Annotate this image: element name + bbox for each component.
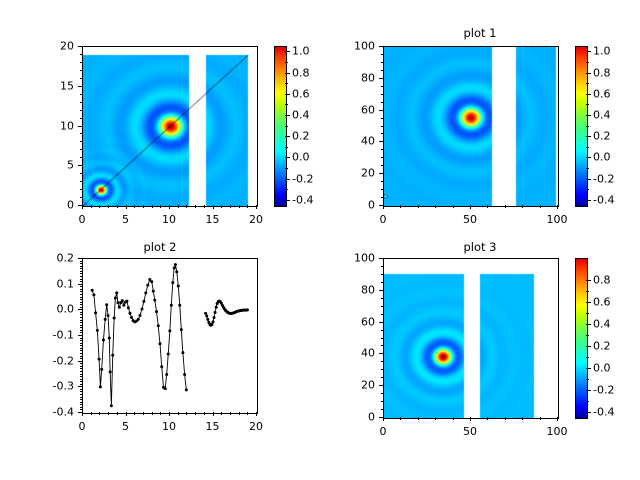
y-minor-tick — [381, 314, 384, 315]
x-minor-tick — [134, 412, 135, 415]
x-tick-label: 10 — [162, 420, 176, 433]
colorbar-minor-tick — [586, 189, 589, 190]
plot-area-bottom-right — [384, 259, 558, 418]
data-point — [153, 299, 156, 302]
y-minor-tick — [80, 268, 83, 269]
x-minor-tick — [204, 205, 205, 208]
axes-top-left[interactable] — [82, 46, 258, 207]
panel-bottom-left: plot 2 05101520-0.4-0.3-0.2-0.10.00.10.2 — [0, 240, 320, 480]
y-tick — [78, 309, 82, 310]
x-minor-tick — [522, 417, 523, 420]
x-minor-tick — [143, 205, 144, 208]
colorbar-tick — [285, 136, 290, 137]
data-point — [152, 290, 155, 293]
data-point — [159, 342, 162, 345]
y-minor-tick — [80, 302, 83, 303]
x-minor-tick — [540, 417, 541, 420]
y-minor-tick — [381, 369, 384, 370]
data-point — [100, 368, 103, 371]
x-minor-tick — [453, 205, 454, 208]
y-minor-tick — [80, 173, 83, 174]
data-point — [168, 329, 171, 332]
x-minor-tick — [435, 417, 436, 420]
y-minor-tick — [80, 322, 83, 323]
y-minor-tick — [80, 291, 83, 292]
x-tick — [213, 412, 214, 416]
y-tick — [379, 385, 383, 386]
x-tick-label: 0 — [380, 213, 387, 226]
data-point — [102, 338, 105, 341]
x-minor-tick — [418, 417, 419, 420]
colorbar-tick-label: 0.6 — [593, 295, 611, 308]
y-minor-tick — [80, 266, 83, 267]
y-minor-tick — [80, 261, 83, 262]
y-minor-tick — [80, 289, 83, 290]
y-minor-tick — [80, 399, 83, 400]
x-minor-tick — [99, 412, 100, 415]
colorbar-minor-tick — [586, 379, 589, 380]
x-tick-label: 20 — [249, 213, 263, 226]
y-minor-tick — [80, 189, 83, 190]
y-tick-label: 20 — [320, 379, 375, 392]
y-minor-tick — [80, 353, 83, 354]
colorbar-tick-label: 0.2 — [593, 339, 611, 352]
colorbar-tick — [285, 94, 290, 95]
y-tick — [78, 126, 82, 127]
data-point — [92, 293, 95, 296]
x-minor-tick — [160, 412, 161, 415]
y-minor-tick — [80, 62, 83, 63]
data-point — [150, 280, 153, 283]
y-tick-label: -0.1 — [0, 329, 74, 342]
colorbar-minor-tick — [285, 83, 288, 84]
colorbar-minor-tick — [586, 83, 589, 84]
y-minor-tick — [80, 102, 83, 103]
data-point — [104, 318, 107, 321]
colorbar-minor-tick — [285, 126, 288, 127]
colorbar-minor-tick — [285, 62, 288, 63]
x-minor-tick — [247, 412, 248, 415]
y-minor-tick — [80, 294, 83, 295]
data-point — [181, 351, 184, 354]
y-minor-tick — [80, 407, 83, 408]
colorbar-tick-label: 0.2 — [292, 130, 310, 143]
y-minor-tick — [80, 379, 83, 380]
data-point — [99, 385, 102, 388]
x-minor-tick — [204, 412, 205, 415]
y-tick-label: 60 — [320, 315, 375, 328]
x-tick-label: 15 — [206, 213, 220, 226]
x-minor-tick — [540, 205, 541, 208]
y-minor-tick — [80, 307, 83, 308]
x-tick — [169, 205, 170, 209]
colorbar-tick — [586, 73, 591, 74]
data-point — [113, 317, 116, 320]
data-point — [140, 308, 143, 311]
y-minor-tick — [80, 384, 83, 385]
x-minor-tick — [178, 205, 179, 208]
data-point — [164, 387, 167, 390]
y-minor-tick — [80, 320, 83, 321]
data-point — [128, 312, 131, 315]
data-point — [155, 310, 158, 313]
x-minor-tick — [221, 412, 222, 415]
x-minor-tick — [230, 205, 231, 208]
x-tick — [557, 205, 558, 209]
y-minor-tick — [381, 409, 384, 410]
data-point — [174, 263, 177, 266]
y-tick — [379, 46, 383, 47]
colorbar-minor-tick — [586, 147, 589, 148]
y-minor-tick — [80, 279, 83, 280]
y-minor-tick — [80, 368, 83, 369]
y-minor-tick — [80, 376, 83, 377]
x-tick — [82, 205, 83, 209]
x-tick — [213, 205, 214, 209]
x-minor-tick — [91, 412, 92, 415]
data-point — [171, 281, 174, 284]
colorbar-tick-label: 0.8 — [593, 66, 611, 79]
y-tick — [379, 141, 383, 142]
colorbar-tick-label: 0.6 — [292, 87, 310, 100]
x-tick — [256, 412, 257, 416]
x-minor-tick — [487, 417, 488, 420]
data-point — [137, 318, 140, 321]
y-minor-tick — [80, 94, 83, 95]
x-tick-label: 100 — [547, 425, 568, 438]
x-tick — [82, 412, 83, 416]
y-minor-tick — [381, 181, 384, 182]
y-minor-tick — [381, 94, 384, 95]
y-minor-tick — [80, 286, 83, 287]
y-minor-tick — [80, 327, 83, 328]
data-point — [204, 312, 207, 315]
x-minor-tick — [99, 205, 100, 208]
x-minor-tick — [505, 205, 506, 208]
x-tick-label: 5 — [122, 213, 129, 226]
data-point — [91, 289, 94, 292]
colorbar-tick — [586, 179, 591, 180]
x-minor-tick — [487, 205, 488, 208]
y-tick-label: 100 — [320, 252, 375, 265]
y-minor-tick — [80, 409, 83, 410]
data-point — [118, 306, 121, 309]
data-point — [180, 328, 183, 331]
y-minor-tick — [381, 266, 384, 267]
y-minor-tick — [381, 126, 384, 127]
x-minor-tick — [221, 205, 222, 208]
x-tick-label: 20 — [249, 420, 263, 433]
x-minor-tick — [91, 205, 92, 208]
colorbar-tick — [586, 346, 591, 347]
y-tick — [78, 205, 82, 206]
y-minor-tick — [381, 377, 384, 378]
colorbar-tick — [285, 157, 290, 158]
data-point — [205, 314, 208, 317]
y-minor-tick — [80, 110, 83, 111]
heatmap-canvas — [384, 259, 558, 418]
x-minor-tick — [230, 412, 231, 415]
y-minor-tick — [80, 281, 83, 282]
colorbar-tick-label: 0.0 — [593, 361, 611, 374]
colorbar-bottom-right — [575, 258, 588, 419]
colorbar-minor-tick — [586, 291, 589, 292]
axes-bottom-right[interactable] — [383, 258, 559, 419]
x-tick — [256, 205, 257, 209]
y-minor-tick — [381, 165, 384, 166]
y-minor-tick — [381, 133, 384, 134]
data-point — [96, 329, 99, 332]
y-tick — [379, 258, 383, 259]
data-point — [213, 316, 216, 319]
colorbar-tick — [586, 51, 591, 52]
colorbar-minor-tick — [285, 104, 288, 105]
x-tick — [169, 412, 170, 416]
y-tick — [379, 110, 383, 111]
y-minor-tick — [80, 263, 83, 264]
panel-bottom-right: plot 3 050100020406080100 -0.4-0.20.00.2… — [320, 240, 640, 480]
data-point — [173, 266, 176, 269]
colorbar-tick — [285, 200, 290, 201]
y-tick-label: 0 — [320, 411, 375, 424]
y-minor-tick — [381, 338, 384, 339]
data-point — [214, 311, 217, 314]
y-tick-label: 40 — [320, 135, 375, 148]
y-tick — [78, 284, 82, 285]
x-minor-tick — [239, 412, 240, 415]
x-minor-tick — [522, 205, 523, 208]
y-minor-tick — [80, 358, 83, 359]
panel-top-right-title: plot 1 — [320, 26, 640, 40]
y-tick-label: 0 — [0, 199, 74, 212]
y-tick — [78, 386, 82, 387]
y-minor-tick — [80, 345, 83, 346]
colorbar-tick-label: -0.2 — [593, 172, 614, 185]
x-tick — [557, 417, 558, 421]
x-tick — [383, 205, 384, 209]
y-minor-tick — [80, 312, 83, 313]
data-point — [206, 318, 209, 321]
data-point — [167, 352, 170, 355]
y-minor-tick — [381, 118, 384, 119]
data-point — [115, 291, 118, 294]
data-point — [165, 373, 168, 376]
x-minor-tick — [195, 205, 196, 208]
colorbar-tick — [586, 390, 591, 391]
y-minor-tick — [80, 340, 83, 341]
y-minor-tick — [80, 374, 83, 375]
y-minor-tick — [80, 402, 83, 403]
colorbar-tick-label: 0.8 — [292, 66, 310, 79]
colorbar-minor-tick — [586, 62, 589, 63]
y-minor-tick — [80, 404, 83, 405]
colorbar-minor-tick — [586, 335, 589, 336]
x-minor-tick — [400, 205, 401, 208]
data-point — [116, 301, 119, 304]
y-minor-tick — [381, 298, 384, 299]
x-minor-tick — [195, 412, 196, 415]
x-tick-label: 0 — [380, 425, 387, 438]
colorbar-top-right — [575, 46, 588, 207]
colorbar-tick-label: 0.8 — [593, 273, 611, 286]
data-point — [127, 306, 130, 309]
y-minor-tick — [80, 78, 83, 79]
y-tick — [379, 78, 383, 79]
y-tick-label: 15 — [0, 79, 74, 92]
colorbar-tick — [586, 115, 591, 116]
y-tick — [379, 290, 383, 291]
y-minor-tick — [80, 297, 83, 298]
heatmap-canvas — [83, 47, 257, 206]
data-point — [98, 358, 101, 361]
colorbar-tick-label: 0.0 — [593, 151, 611, 164]
y-tick-label: 20 — [0, 40, 74, 53]
colorbar-minor-tick — [586, 401, 589, 402]
x-tick — [383, 417, 384, 421]
y-tick — [379, 417, 383, 418]
y-tick-label: 60 — [320, 103, 375, 116]
colorbar-tick — [285, 51, 290, 52]
colorbar-tick — [586, 302, 591, 303]
heatmap-canvas — [384, 47, 558, 206]
colorbar-tick — [586, 324, 591, 325]
colorbar-tick-label: -0.4 — [593, 405, 614, 418]
y-minor-tick — [381, 149, 384, 150]
colorbar-tick — [285, 73, 290, 74]
x-minor-tick — [186, 412, 187, 415]
colorbar-tick — [586, 368, 591, 369]
y-minor-tick — [381, 330, 384, 331]
y-minor-tick — [80, 133, 83, 134]
y-minor-tick — [80, 197, 83, 198]
colorbar-minor-tick — [586, 126, 589, 127]
data-point — [142, 300, 145, 303]
colorbar-minor-tick — [586, 357, 589, 358]
y-tick — [78, 258, 82, 259]
y-tick-label: 10 — [0, 119, 74, 132]
y-tick-label: 80 — [320, 283, 375, 296]
y-tick — [379, 322, 383, 323]
y-minor-tick — [80, 394, 83, 395]
x-tick — [470, 417, 471, 421]
x-tick — [126, 412, 127, 416]
colorbar-tick — [586, 157, 591, 158]
y-minor-tick — [80, 157, 83, 158]
plot-area-top-left — [83, 47, 257, 206]
data-point — [111, 354, 114, 357]
y-tick-label: 20 — [320, 167, 375, 180]
colorbar-minor-tick — [285, 147, 288, 148]
x-tick-label: 100 — [547, 213, 568, 226]
colorbar-tick — [586, 412, 591, 413]
colorbar-tick-label: 0.4 — [593, 317, 611, 330]
data-point — [144, 291, 147, 294]
y-minor-tick — [80, 338, 83, 339]
data-point — [210, 323, 213, 326]
y-minor-tick — [80, 70, 83, 71]
data-point — [185, 388, 188, 391]
y-minor-tick — [381, 86, 384, 87]
y-tick-label: -0.4 — [0, 406, 74, 419]
data-point — [170, 304, 173, 307]
colorbar-tick-label: -0.2 — [292, 172, 313, 185]
x-minor-tick — [108, 205, 109, 208]
data-point — [157, 324, 160, 327]
y-tick — [78, 86, 82, 87]
x-minor-tick — [108, 412, 109, 415]
data-point — [160, 365, 163, 368]
y-minor-tick — [80, 348, 83, 349]
x-tick — [126, 205, 127, 209]
x-tick-label: 0 — [79, 420, 86, 433]
y-minor-tick — [381, 361, 384, 362]
y-tick — [78, 165, 82, 166]
x-minor-tick — [178, 412, 179, 415]
y-tick-label: -0.3 — [0, 380, 74, 393]
x-minor-tick — [239, 205, 240, 208]
data-point — [94, 311, 97, 314]
y-minor-tick — [381, 54, 384, 55]
x-tick-label: 5 — [122, 420, 129, 433]
axes-top-right[interactable] — [383, 46, 559, 207]
x-tick-label: 10 — [162, 213, 176, 226]
y-minor-tick — [80, 332, 83, 333]
y-tick — [379, 173, 383, 174]
y-minor-tick — [80, 330, 83, 331]
data-point — [109, 370, 112, 373]
y-minor-tick — [80, 381, 83, 382]
colorbar-tick-label: 0.4 — [593, 108, 611, 121]
colorbar-minor-tick — [586, 104, 589, 105]
y-minor-tick — [381, 282, 384, 283]
colorbar-minor-tick — [285, 189, 288, 190]
data-point — [125, 300, 128, 303]
data-point — [215, 306, 218, 309]
line-series — [92, 265, 186, 406]
y-minor-tick — [80, 54, 83, 55]
colorbar-tick-label: 0.2 — [593, 130, 611, 143]
data-point — [105, 303, 108, 306]
data-point — [130, 316, 133, 319]
y-tick — [78, 412, 82, 413]
data-point — [138, 314, 141, 317]
x-minor-tick — [418, 205, 419, 208]
y-minor-tick — [80, 363, 83, 364]
colorbar-tick-label: 1.0 — [593, 45, 611, 58]
x-tick-label: 0 — [79, 213, 86, 226]
colorbar-top-left — [274, 46, 287, 207]
panel-top-right: plot 1 050100020406080100 -0.4-0.20.00.2… — [320, 0, 640, 240]
colorbar-tick-label: 0.0 — [292, 151, 310, 164]
y-minor-tick — [80, 304, 83, 305]
y-minor-tick — [80, 273, 83, 274]
y-minor-tick — [80, 371, 83, 372]
axes-bottom-left[interactable] — [82, 258, 258, 414]
data-point — [211, 320, 214, 323]
x-tick-label: 50 — [463, 213, 477, 226]
y-minor-tick — [80, 350, 83, 351]
colorbar-tick — [586, 136, 591, 137]
x-minor-tick — [400, 417, 401, 420]
x-minor-tick — [505, 417, 506, 420]
y-tick-label: 100 — [320, 40, 375, 53]
y-tick-label: 0.1 — [0, 277, 74, 290]
data-point — [110, 404, 113, 407]
y-tick-label: 0.2 — [0, 252, 74, 265]
x-tick-label: 15 — [206, 420, 220, 433]
x-minor-tick — [160, 205, 161, 208]
y-minor-tick — [80, 389, 83, 390]
